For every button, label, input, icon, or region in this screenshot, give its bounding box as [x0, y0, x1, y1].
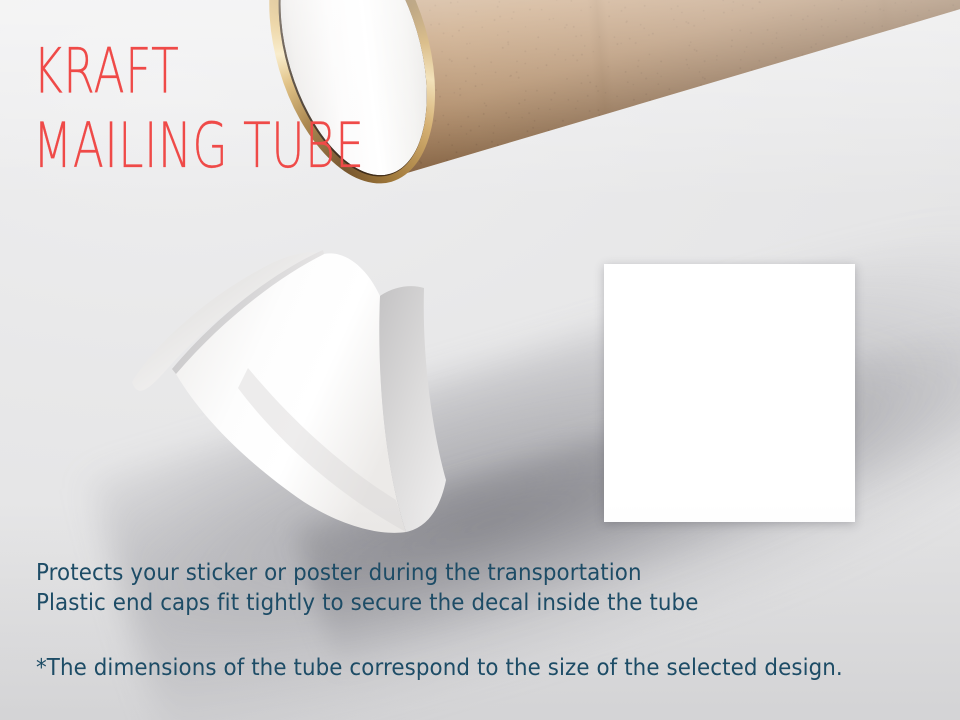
feature-description: Protects your sticker or poster during t… [36, 558, 698, 619]
promo-image-canvas: KRAFT MAILING TUBE Protects your sticker… [0, 0, 960, 720]
page-title: KRAFT MAILING TUBE [33, 34, 364, 184]
dimensions-footnote: *The dimensions of the tube correspond t… [36, 655, 843, 681]
